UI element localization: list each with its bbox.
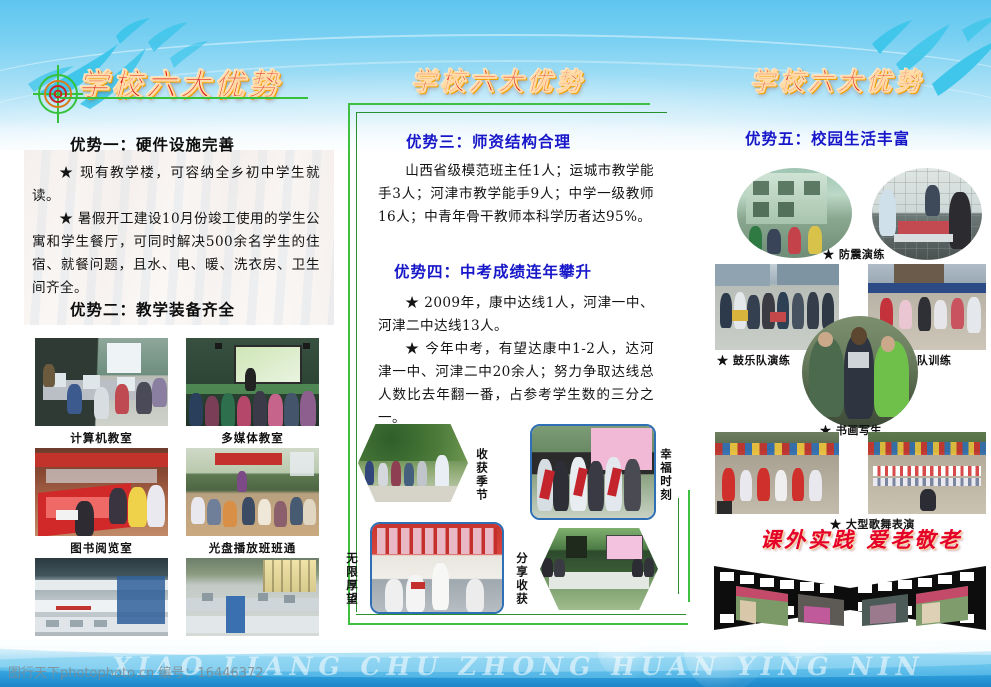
photo-caption-share-harvest: 分享收获 xyxy=(514,552,530,606)
header-title-2: 学校六大优势 xyxy=(411,62,585,98)
photo-caption-happy-moment: 幸福时刻 xyxy=(658,448,674,502)
photo-infinite-hope xyxy=(370,522,504,614)
middle-green-frame-left-inner xyxy=(356,112,365,612)
left-section1-heading: 优势一：硬件设施完善 xyxy=(70,133,235,155)
photo-physics-lab xyxy=(35,558,168,638)
watermark-text: 图行天下photophoto.cn 编号：16446372 xyxy=(8,662,264,681)
photo-caption-multimedia-room: 多媒体教室 xyxy=(186,430,319,446)
photo-share-harvest xyxy=(540,528,658,610)
left-section1-paragraph-1: ★ 现有教学楼，可容纳全乡初中学生就读。 xyxy=(32,162,320,208)
middle-section3-heading: 优势三：师资结构合理 xyxy=(406,130,571,152)
photo-caption-library: 图书阅览室 xyxy=(35,540,168,556)
photo-chemistry-lab xyxy=(186,558,319,638)
middle-green-frame-top-inner xyxy=(356,112,667,119)
photo-cd-classroom xyxy=(186,448,319,536)
middle-section4-paragraph-2: ★ 今年中考，有望达康中1-2人，达河津一中、河津二中20余人；努力争取达线总人… xyxy=(378,338,654,430)
left-section2-heading: 优势二：教学装备齐全 xyxy=(70,298,235,320)
target-crosshair-icon xyxy=(33,65,83,127)
right-section5-heading: 优势五：校园生活丰富 xyxy=(745,127,910,149)
header-title-3: 学校六大优势 xyxy=(750,62,924,98)
photo-caption-drum-band: ★ 鼓乐队演练 xyxy=(717,352,790,368)
photo-happy-moment xyxy=(530,424,656,520)
photo-dance-performance-left xyxy=(715,432,839,514)
photo-computer-room xyxy=(35,338,168,426)
middle-section4-paragraph-1: ★ 2009年，康中达线1人，河津一中、河津二中达线13人。 xyxy=(378,292,654,338)
photo-caption-infinite-hope: 无限厚望 xyxy=(344,552,360,606)
photo-library-reading-room xyxy=(35,448,168,536)
photo-earthquake-drill-a xyxy=(737,168,852,258)
photo-earthquake-drill-b xyxy=(872,168,982,260)
photo-caption-earthquake-drill: ★ 防震演练 xyxy=(823,246,885,262)
photo-dance-performance-right xyxy=(868,432,986,514)
photo-caption-cd-classroom: 光盘播放班班通 xyxy=(186,540,319,556)
photo-harvest-season xyxy=(358,424,468,502)
left-section1-paragraph-2: ★ 暑假开工建设10月份竣工使用的学生公寓和学生餐厅，可同时解决500余名学生的… xyxy=(32,208,320,300)
photo-calligraphy-sketching xyxy=(802,316,918,428)
poster-canvas: 学校六大优势 学校六大优势 学校六大优势 优势一：硬件设施完善 ★ 现有教学楼，… xyxy=(0,0,991,687)
middle-section3-paragraph: 山西省级模范班主任1人；运城市教学能手3人；河津市教学能手9人；中学一级教师16… xyxy=(378,160,654,229)
photo-caption-computer-room: 计算机教室 xyxy=(35,430,168,446)
middle-section4-heading: 优势四：中考成绩连年攀升 xyxy=(394,260,592,282)
middle-green-frame-right-inner xyxy=(678,498,679,594)
photo-multimedia-room xyxy=(186,338,319,426)
middle-green-frame-right xyxy=(686,490,690,602)
filmstrip xyxy=(712,548,988,638)
header-rule-1 xyxy=(60,97,308,99)
photo-caption-harvest-season: 收获季节 xyxy=(474,448,490,502)
